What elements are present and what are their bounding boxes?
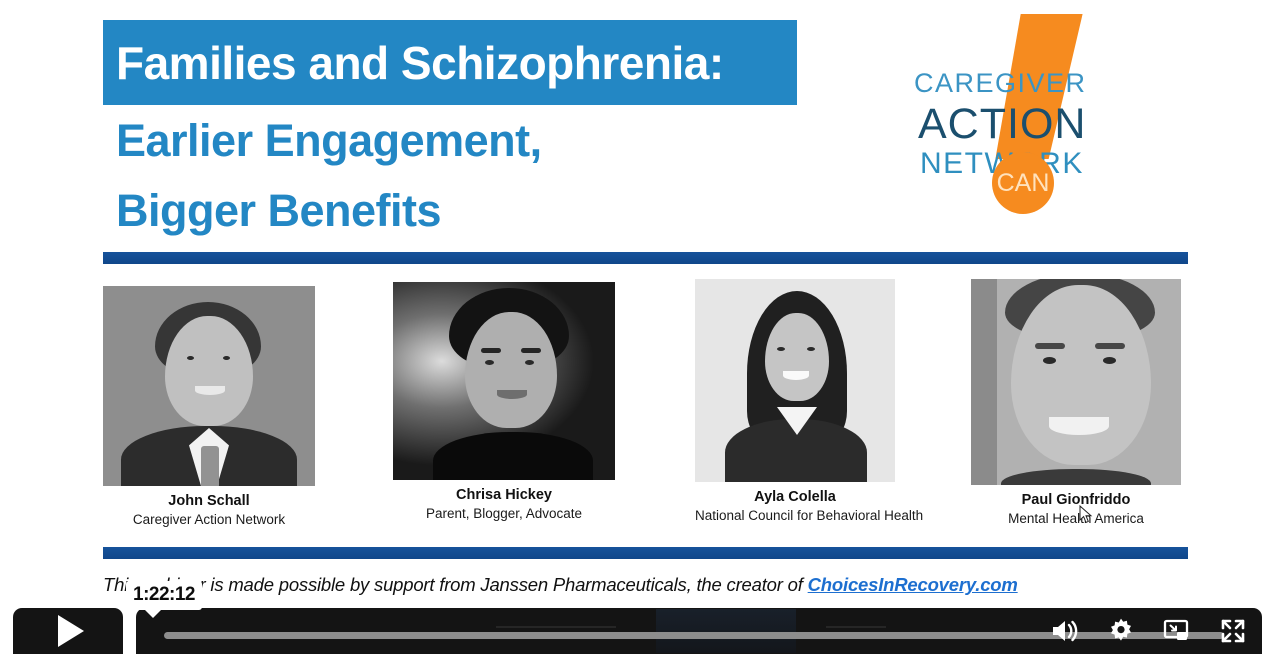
fullscreen-icon[interactable] [1218,616,1248,646]
speaker-photo-paul-gionfriddo [971,279,1181,485]
speaker-card: John Schall Caregiver Action Network [103,286,315,527]
speaker-row: John Schall Caregiver Action Network [95,278,1195,543]
slide-title-line-2: Earlier Engagement, [116,115,542,167]
speaker-card: Chrisa Hickey Parent, Blogger, Advocate [393,282,615,521]
slide-title-line-1: Families and Schizophrenia: [103,36,724,90]
scrubber-thumbnail-preview [656,609,796,653]
logo-line-caregiver: CAREGIVER [914,68,1087,99]
speaker-card: Ayla Colella National Council for Behavi… [695,279,895,523]
divider-bottom [103,547,1188,559]
slide-title-banner: Families and Schizophrenia: [103,20,797,105]
caregiver-action-network-logo: CAREGIVER ACTION NETWORK CAN [900,12,1200,237]
player-control-bar [136,608,1262,654]
slide-canvas: Families and Schizophrenia: Earlier Enga… [0,0,1262,654]
play-icon [58,615,84,647]
video-player-stage: Families and Schizophrenia: Earlier Enga… [0,0,1262,654]
divider-top [103,252,1188,264]
can-badge-label: CAN [997,169,1050,198]
scrubber-time-tooltip: 1:22:12 [126,581,202,610]
sponsor-caption-text: This webinar is made possible by support… [103,574,808,595]
miniplayer-icon[interactable] [1162,616,1192,646]
can-badge-icon: CAN [992,152,1054,214]
speaker-org: National Council for Behavioral Health [695,508,895,523]
play-button[interactable] [13,608,123,654]
sponsor-caption: This webinar is made possible by support… [103,574,1193,596]
speaker-photo-ayla-colella [695,279,895,482]
speaker-name: Paul Gionfriddo [971,492,1181,508]
gear-icon[interactable] [1106,616,1136,646]
logo-line-action: ACTION [918,100,1086,149]
player-right-controls [1050,608,1248,654]
speaker-name: John Schall [103,493,315,509]
speaker-photo-chrisa-hickey [393,282,615,480]
speaker-name: Ayla Colella [695,489,895,505]
speaker-org: Caregiver Action Network [103,512,315,527]
speaker-card: Paul Gionfriddo Mental Health America [971,279,1181,526]
speaker-photo-john-schall [103,286,315,486]
speaker-org: Mental Health America [971,511,1181,526]
speaker-name: Chrisa Hickey [393,487,615,503]
slide-title-line-3: Bigger Benefits [116,185,441,237]
choices-in-recovery-link[interactable]: ChoicesInRecovery.com [808,574,1018,595]
speaker-org: Parent, Blogger, Advocate [393,506,615,521]
volume-icon[interactable] [1050,616,1080,646]
